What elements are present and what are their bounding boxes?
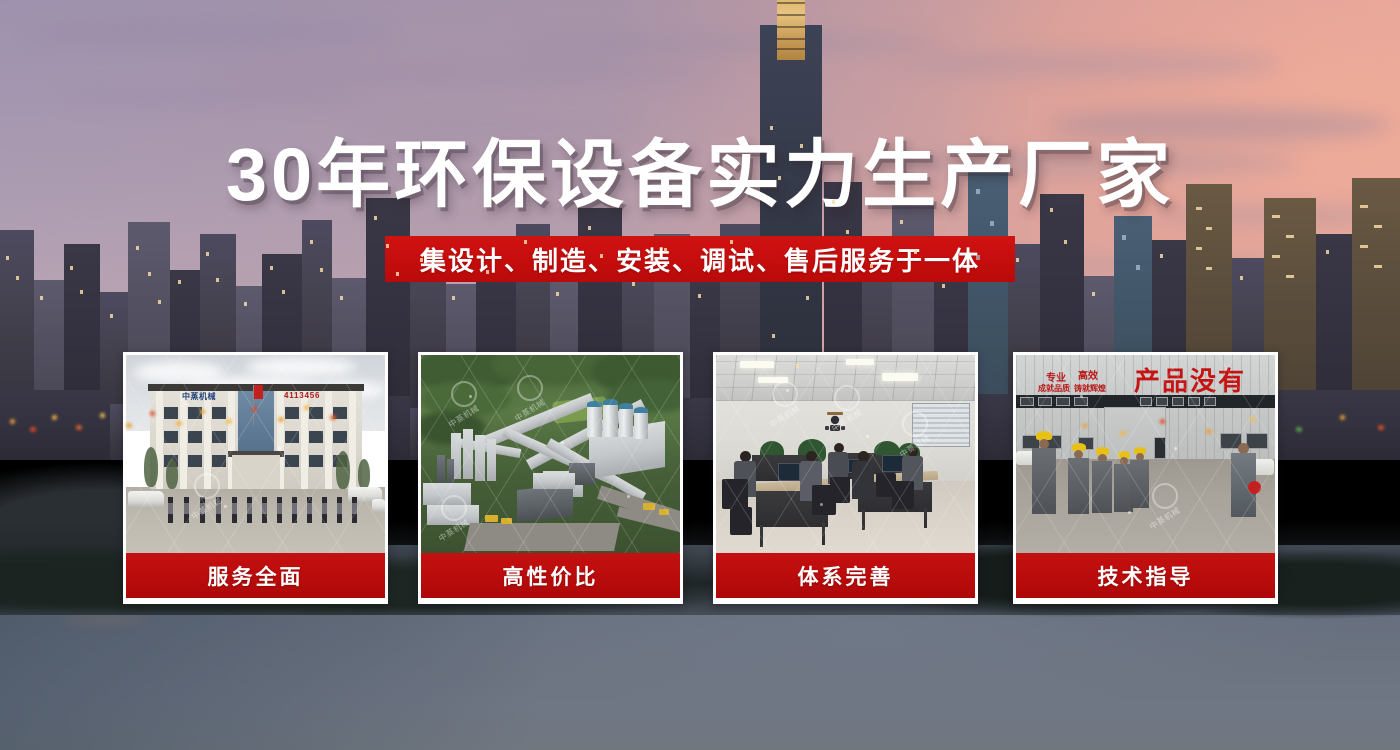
building-column bbox=[325, 391, 332, 489]
water-light-reflection bbox=[60, 617, 150, 622]
office-chair bbox=[892, 481, 914, 509]
plant-shed-dark bbox=[517, 484, 573, 522]
building-window bbox=[188, 455, 202, 467]
card-label-bar: 服务全面 bbox=[126, 553, 385, 598]
office-interior-photo: 中蒸机械 中蒸机械 中蒸机械 bbox=[716, 355, 975, 553]
ceiling-light bbox=[882, 373, 918, 381]
watermark-dot bbox=[820, 503, 823, 506]
building-entrance bbox=[232, 455, 280, 489]
building-window bbox=[285, 431, 299, 443]
watermark-dot bbox=[627, 495, 630, 498]
watermark-dot bbox=[1080, 395, 1083, 398]
subtitle-bar: 集设计、制造、安装、调试、售后服务于一体 bbox=[385, 236, 1015, 282]
production-plant-aerial-photo: 中蒸机械 中蒸机械 中蒸机械 bbox=[421, 355, 680, 553]
storage-silo bbox=[634, 411, 648, 439]
person-body bbox=[852, 461, 874, 499]
building-window bbox=[212, 455, 226, 467]
watermark-dot bbox=[1128, 511, 1131, 514]
office-chair bbox=[730, 507, 752, 535]
factory-window bbox=[1140, 397, 1152, 406]
tower-crown-band bbox=[777, 38, 805, 40]
building-window bbox=[309, 455, 323, 467]
factory-side-door bbox=[1154, 437, 1166, 459]
building-window bbox=[212, 431, 226, 443]
card-label-bar: 技术指导 bbox=[1016, 553, 1275, 598]
factory-slogan-small: 专业 bbox=[1046, 369, 1066, 384]
card-label-text: 高性价比 bbox=[503, 561, 599, 591]
worker-body bbox=[1068, 458, 1089, 514]
factory-window bbox=[1172, 397, 1184, 406]
watermark-dot bbox=[186, 403, 189, 406]
building-window bbox=[188, 431, 202, 443]
chimney bbox=[447, 459, 454, 485]
watermark-dot bbox=[866, 435, 869, 438]
tower-crown-band bbox=[777, 48, 805, 50]
staff-person bbox=[307, 497, 312, 523]
staff-person bbox=[184, 497, 189, 523]
feature-card[interactable]: 中蒸机械 中蒸机械 中蒸机械 高性价比 bbox=[418, 352, 683, 604]
cloud bbox=[246, 357, 356, 377]
yard-road bbox=[464, 523, 620, 551]
card-label-text: 体系完善 bbox=[798, 561, 894, 591]
worker-body bbox=[1130, 460, 1149, 508]
building-window bbox=[285, 455, 299, 467]
red-hard-hat bbox=[1248, 481, 1261, 494]
tower-crown-band bbox=[777, 26, 805, 28]
staff-person bbox=[277, 497, 282, 523]
silo-dome bbox=[634, 407, 648, 413]
chimney bbox=[437, 455, 445, 485]
excavator bbox=[643, 503, 655, 510]
office-chair bbox=[722, 479, 748, 509]
tower-crown-band bbox=[777, 14, 805, 16]
factory-slogan-small: 高效 bbox=[1078, 367, 1098, 382]
staff-person bbox=[352, 497, 357, 523]
building-sign-text: 中蒸机械 bbox=[182, 391, 216, 402]
tree bbox=[166, 459, 178, 489]
feature-card[interactable]: 中蒸机械 4113456 bbox=[123, 352, 388, 604]
storage-silo bbox=[619, 407, 633, 437]
tower-illuminated-crown bbox=[777, 0, 805, 60]
factory-slogan-text: 产品没有 bbox=[1134, 361, 1246, 398]
photo-plaza-ground bbox=[126, 487, 385, 553]
watermark-dot bbox=[1174, 447, 1177, 450]
factory-window bbox=[1056, 397, 1070, 406]
desk-leg bbox=[822, 523, 825, 545]
staff-person bbox=[262, 497, 267, 523]
factory-slogan-small: 铸就辉煌 bbox=[1074, 383, 1106, 394]
staff-person bbox=[168, 497, 173, 523]
storage-silo bbox=[587, 405, 602, 437]
site-office bbox=[533, 473, 575, 489]
factory-window bbox=[1204, 397, 1216, 406]
worker-body bbox=[1092, 461, 1112, 513]
card-label-bar: 体系完善 bbox=[716, 553, 975, 598]
staff-person bbox=[292, 497, 297, 523]
excavator bbox=[501, 518, 512, 524]
watermark-dot bbox=[224, 505, 227, 508]
building-window bbox=[333, 431, 347, 443]
ceiling-light bbox=[740, 361, 774, 368]
staff-person bbox=[322, 497, 327, 523]
company-headquarters-photo: 中蒸机械 4113456 bbox=[126, 355, 385, 553]
flag bbox=[254, 385, 263, 399]
building-phone-text: 4113456 bbox=[284, 391, 320, 400]
excavator bbox=[485, 515, 498, 522]
watermark-dot bbox=[561, 441, 564, 444]
parked-car bbox=[128, 491, 164, 507]
factory-window bbox=[1038, 397, 1052, 406]
tree bbox=[358, 459, 370, 489]
subtitle-text: 集设计、制造、安装、调试、售后服务于一体 bbox=[420, 241, 980, 278]
laptop bbox=[778, 463, 800, 481]
card-label-text: 技术指导 bbox=[1098, 561, 1194, 591]
staff-person bbox=[337, 497, 342, 523]
feature-card[interactable]: 中蒸机械 中蒸机械 中蒸机械 体系完善 bbox=[713, 352, 978, 604]
excavator bbox=[659, 509, 669, 515]
building-window bbox=[285, 407, 299, 419]
feature-card[interactable]: 产品没有 专业 高效 成就品质 铸就辉煌 bbox=[1013, 352, 1278, 604]
building-window bbox=[212, 407, 226, 419]
hero-banner: 30年环保设备实力生产厂家 集设计、制造、安装、调试、售后服务于一体 bbox=[0, 0, 1400, 750]
building-column bbox=[301, 391, 308, 489]
factory-window bbox=[1188, 397, 1200, 406]
silo-dome bbox=[619, 403, 633, 409]
storage-silo bbox=[603, 403, 618, 437]
monitor bbox=[882, 455, 904, 472]
building-window bbox=[309, 407, 323, 419]
building-window bbox=[333, 407, 347, 419]
ceiling-light bbox=[846, 359, 874, 365]
building-column bbox=[349, 391, 356, 489]
process-tower bbox=[487, 439, 496, 481]
page-title: 30年环保设备实力生产厂家 bbox=[0, 132, 1400, 218]
staff-person bbox=[232, 497, 237, 523]
building-window bbox=[309, 431, 323, 443]
desk-leg bbox=[862, 510, 865, 530]
tree bbox=[144, 447, 158, 487]
factory-window bbox=[1246, 433, 1268, 449]
building-window bbox=[188, 407, 202, 419]
desk-leg bbox=[760, 525, 763, 547]
silo-dome bbox=[603, 399, 618, 405]
desk-leg bbox=[924, 508, 927, 528]
tree bbox=[336, 451, 350, 489]
watermark-dot bbox=[278, 447, 281, 450]
office-chair bbox=[830, 477, 850, 503]
factory-window bbox=[1074, 397, 1088, 406]
factory-slogan-small: 成就品质 bbox=[1038, 383, 1070, 394]
factory-window bbox=[1020, 397, 1034, 406]
card-label-bar: 高性价比 bbox=[421, 553, 680, 598]
parked-car bbox=[372, 499, 385, 512]
process-tower bbox=[475, 435, 485, 481]
worker-body bbox=[1032, 448, 1056, 514]
tower-crown-band bbox=[777, 2, 805, 4]
building-window bbox=[164, 407, 178, 419]
feature-card-row: 中蒸机械 4113456 bbox=[0, 352, 1400, 604]
workers-training-photo: 产品没有 专业 高效 成就品质 铸就辉煌 bbox=[1016, 355, 1275, 553]
building-window bbox=[164, 431, 178, 443]
card-label-text: 服务全面 bbox=[208, 561, 304, 591]
silo-dome bbox=[587, 401, 602, 407]
staff-person bbox=[247, 497, 252, 523]
factory-window bbox=[1156, 397, 1168, 406]
process-tower bbox=[463, 429, 473, 479]
